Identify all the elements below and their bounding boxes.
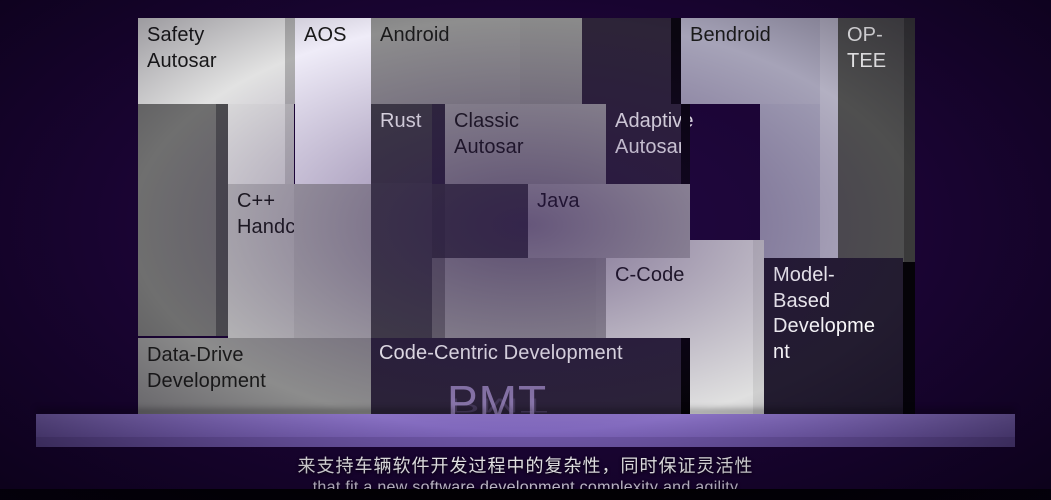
column-slab-bendroid-lower-edge: [820, 18, 838, 262]
column-slab-midgrey-2: [445, 258, 611, 338]
block-label: Bendroid: [690, 23, 816, 49]
column-slab-dark-top-mid-edge: [671, 18, 681, 104]
block-label: Data-Drive Development: [147, 343, 367, 394]
column-slab-between-safety-aos: [285, 18, 295, 104]
block-adaptive-autosar[interactable]: Adaptive Autosar: [606, 104, 681, 184]
block-label: Safety Autosar: [147, 23, 281, 74]
block-label: Java: [537, 189, 686, 215]
block-bendroid[interactable]: Bendroid: [681, 18, 820, 104]
column-slab-android-right: [520, 18, 582, 104]
column-slab-midgrey-3: [432, 258, 445, 338]
block-cpp-handcode-ext: [294, 184, 371, 338]
column-slab-bendroid-lower: [760, 104, 820, 262]
column-slab-ccode-left-edge: [596, 258, 606, 338]
block-op-tee[interactable]: OP- TEE: [838, 18, 904, 104]
block-android[interactable]: Android: [371, 18, 520, 104]
column-slab-cpp-upper-right: [285, 104, 294, 184]
block-aos[interactable]: AOS: [295, 18, 371, 184]
block-label: Rust: [380, 109, 428, 135]
column-slab-optee-lower-edge: [904, 18, 915, 262]
column-slab-midgrey-1: [445, 183, 528, 258]
column-slab-dark-top-mid: [582, 18, 671, 104]
block-rust[interactable]: Rust: [371, 104, 432, 183]
platform-front: [36, 437, 1015, 447]
column-slab-rust-lower-b: [432, 183, 445, 258]
separator-dark-model-right: [903, 258, 915, 422]
block-label: Code-Centric Development: [379, 341, 677, 367]
block-label: C++ Handcode: [237, 189, 290, 240]
block-label: Android: [380, 23, 516, 49]
diagram-canvas: Safety Autosar AOS Android Bendroid OP- …: [0, 0, 1051, 500]
pmt-watermark-reflection: PMT: [449, 394, 549, 418]
block-c-code[interactable]: C-Code: [606, 258, 690, 338]
block-safety-autosar[interactable]: Safety Autosar: [138, 18, 285, 104]
column-slab-ccode-tall-edge: [753, 240, 764, 422]
block-model-based-development[interactable]: Model- Based Developme nt: [764, 258, 903, 422]
separator-adaptive-right: [681, 104, 690, 184]
block-label: OP- TEE: [847, 23, 900, 74]
separator-rust-classic: [432, 104, 445, 184]
letterbox-bar: [0, 489, 1051, 500]
block-label: Model- Based Developme nt: [773, 263, 899, 365]
subtitle-chinese: 来支持车辆软件开发过程中的复杂性，同时保证灵活性: [0, 452, 1051, 478]
block-cpp-handcode[interactable]: C++ Handcode: [228, 184, 294, 338]
block-label: Classic Autosar: [454, 109, 602, 160]
block-data-drive-development[interactable]: Data-Drive Development: [138, 338, 371, 418]
column-slab-optee-lower: [838, 104, 904, 262]
column-slab-cpp-upper: [228, 104, 285, 184]
column-slab-rust-lower: [371, 183, 432, 338]
block-label: AOS: [304, 23, 367, 49]
block-java[interactable]: Java: [528, 184, 690, 258]
slide-stage: Safety Autosar AOS Android Bendroid OP- …: [0, 0, 1051, 500]
block-classic-autosar[interactable]: Classic Autosar: [445, 104, 606, 184]
block-label: Adaptive Autosar: [615, 109, 677, 160]
column-slab-left-grey: [138, 104, 216, 336]
column-slab-left-divider: [216, 104, 228, 336]
block-label: C-Code: [615, 263, 686, 289]
